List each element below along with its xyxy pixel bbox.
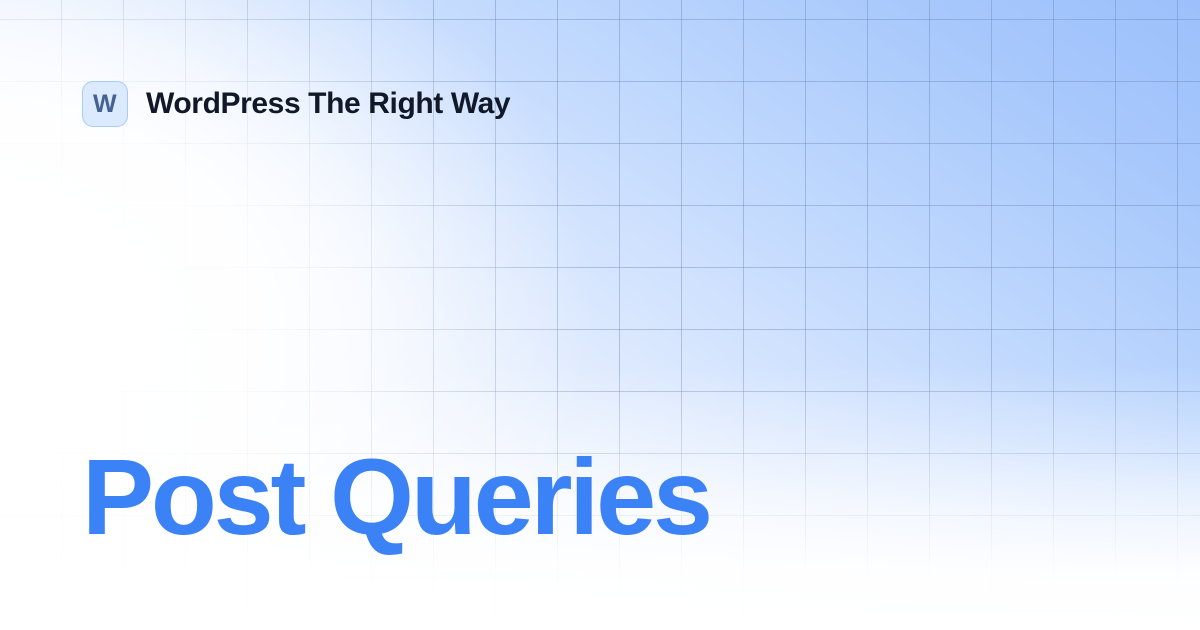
card-content: W WordPress The Right Way Post Queries xyxy=(0,0,1200,630)
site-title: WordPress The Right Way xyxy=(146,87,510,121)
brand-lockup: W WordPress The Right Way xyxy=(82,81,510,127)
wordpress-logo-icon: W xyxy=(82,81,128,127)
og-card: W WordPress The Right Way Post Queries xyxy=(0,0,1200,630)
page-title: Post Queries xyxy=(82,443,710,551)
